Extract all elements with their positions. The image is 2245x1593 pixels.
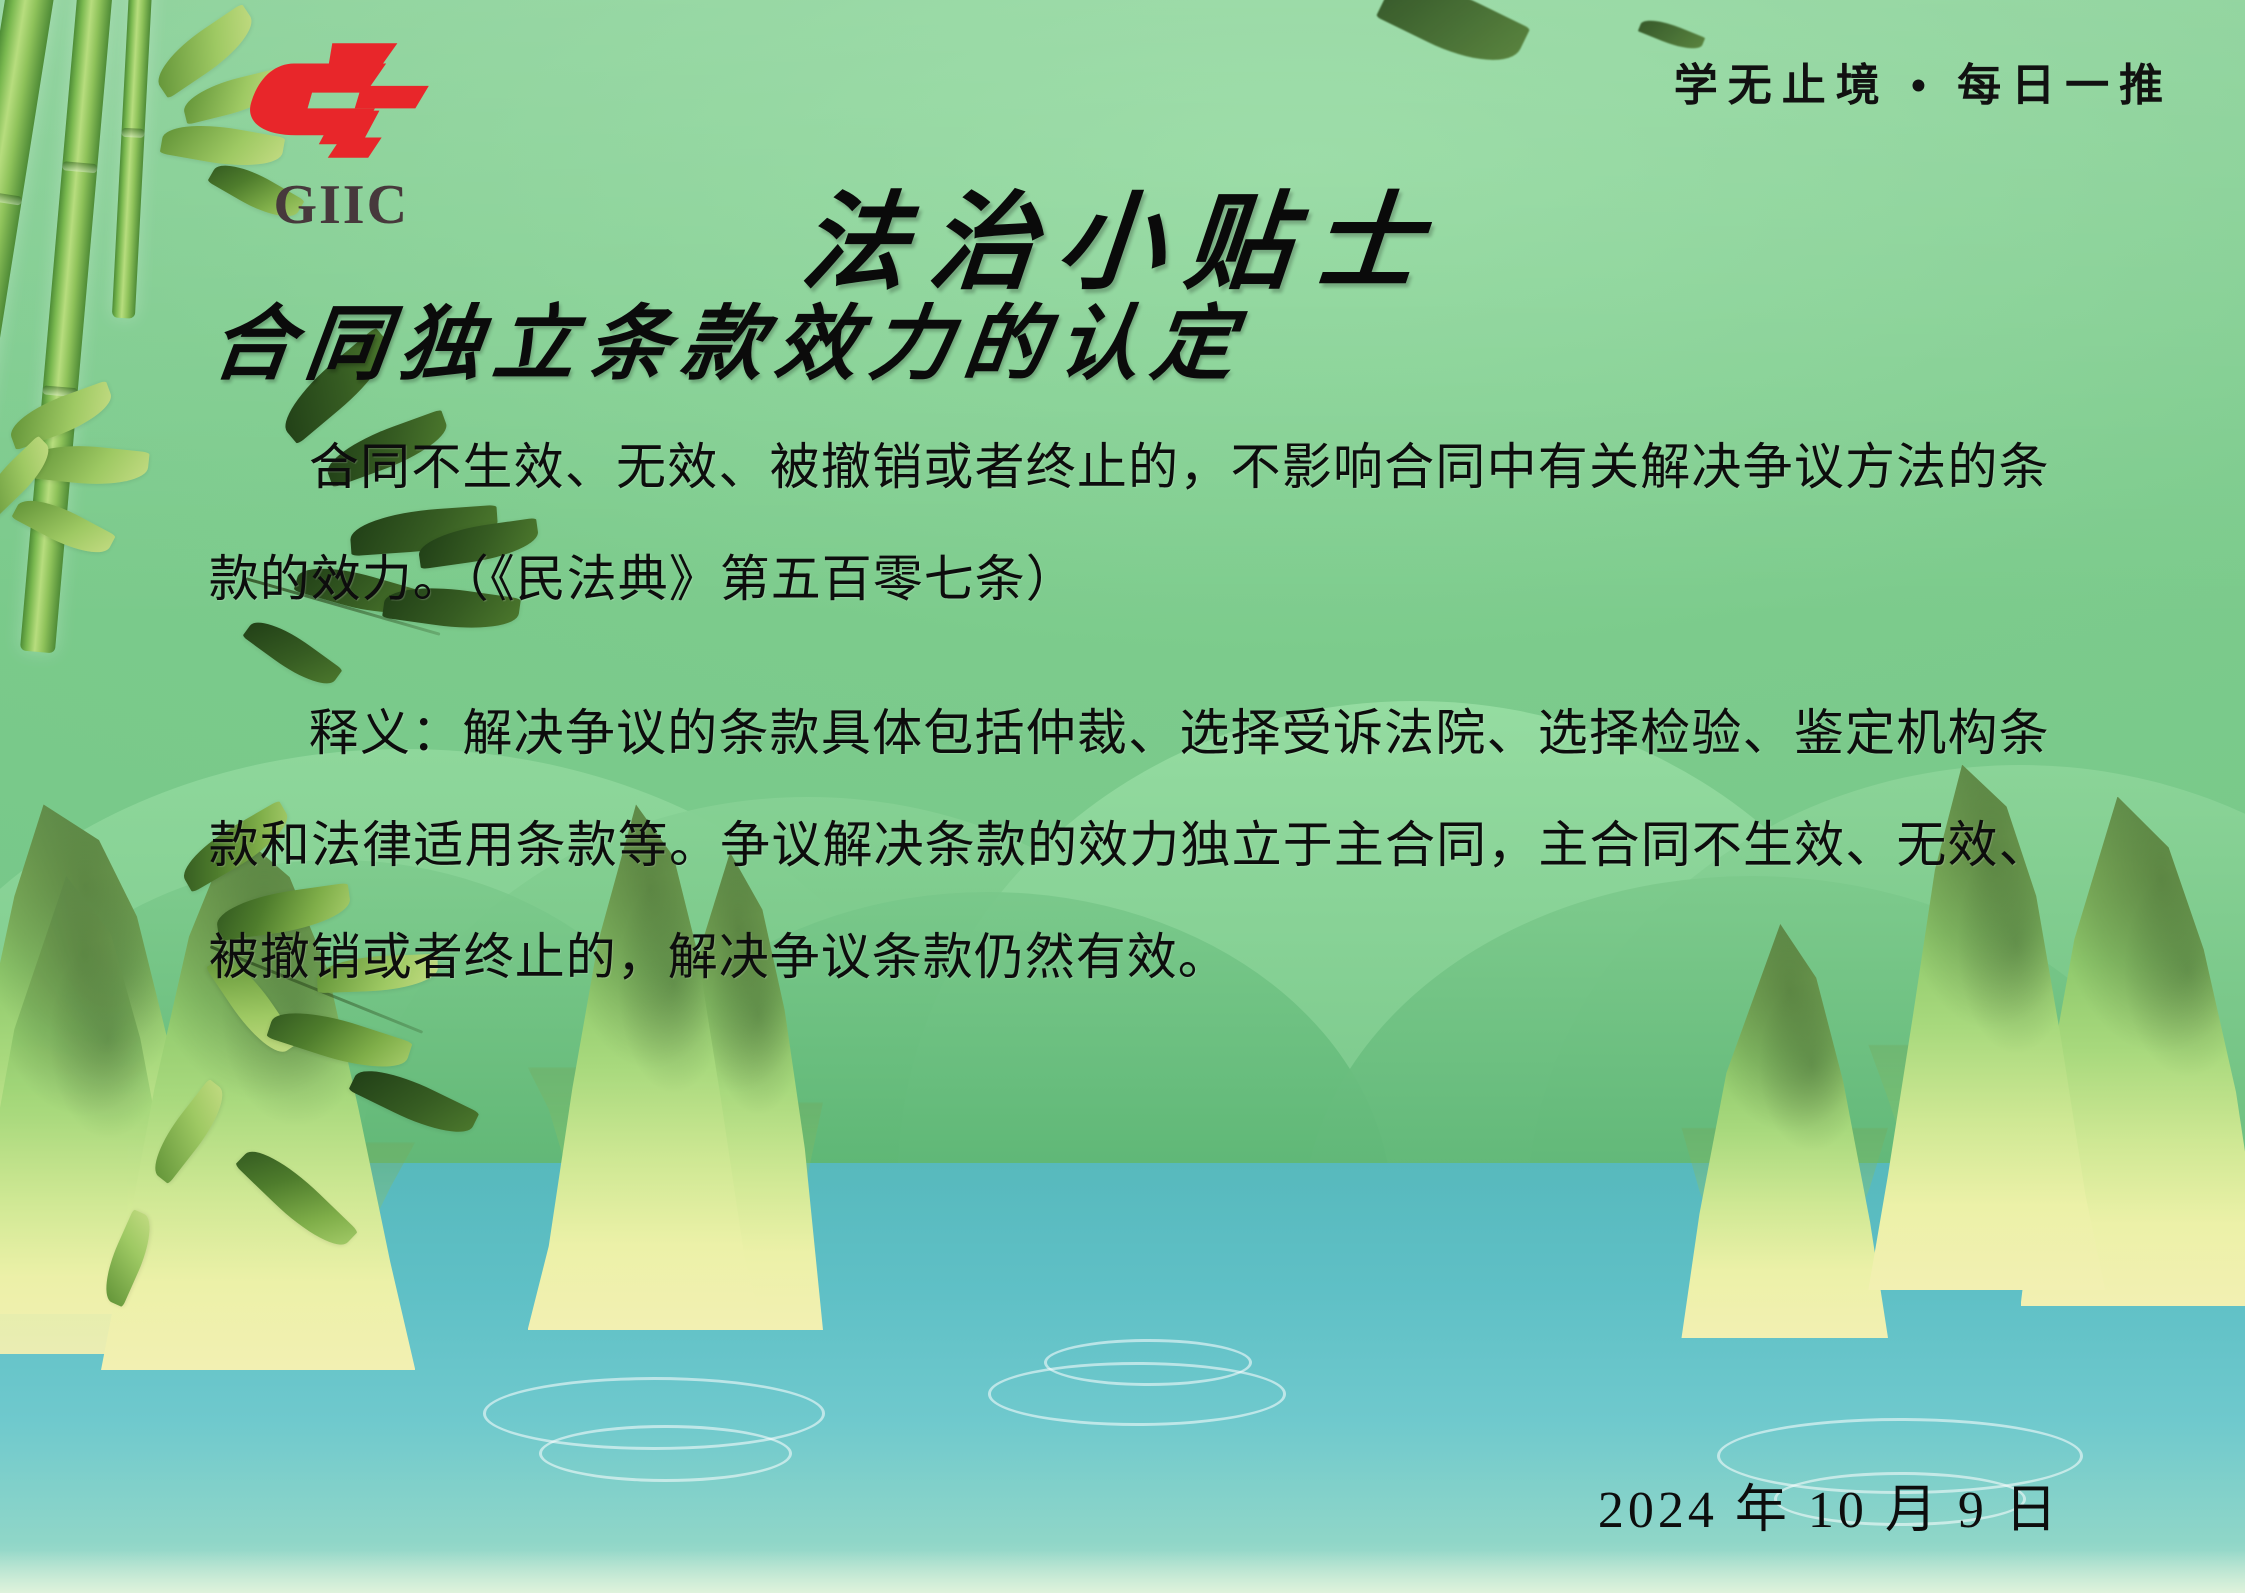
giic-g-mark-icon — [229, 41, 454, 167]
publish-date: 2024 年 10 月 9 日 — [1598, 1467, 2061, 1542]
paragraph-explanation: 释义：解决争议的条款具体包括仲裁、选择受诉法院、选择检验、鉴定机构条款和法律适用… — [209, 677, 2050, 1013]
page-subtitle: 合同独立条款效力的认定 — [206, 277, 1255, 396]
body-text: 合同不生效、无效、被撤销或者终止的，不影响合同中有关解决争议方法的条款的效力。（… — [209, 411, 2050, 1013]
paragraph-provision: 合同不生效、无效、被撤销或者终止的，不影响合同中有关解决争议方法的条款的效力。（… — [209, 411, 2050, 635]
poster-canvas: GIIC 学无止境 • 每日一推 法治小贴士 合同独立条款效力的认定 合同不生效… — [0, 0, 2245, 1593]
tagline: 学无止境 • 每日一推 — [1674, 49, 2173, 113]
